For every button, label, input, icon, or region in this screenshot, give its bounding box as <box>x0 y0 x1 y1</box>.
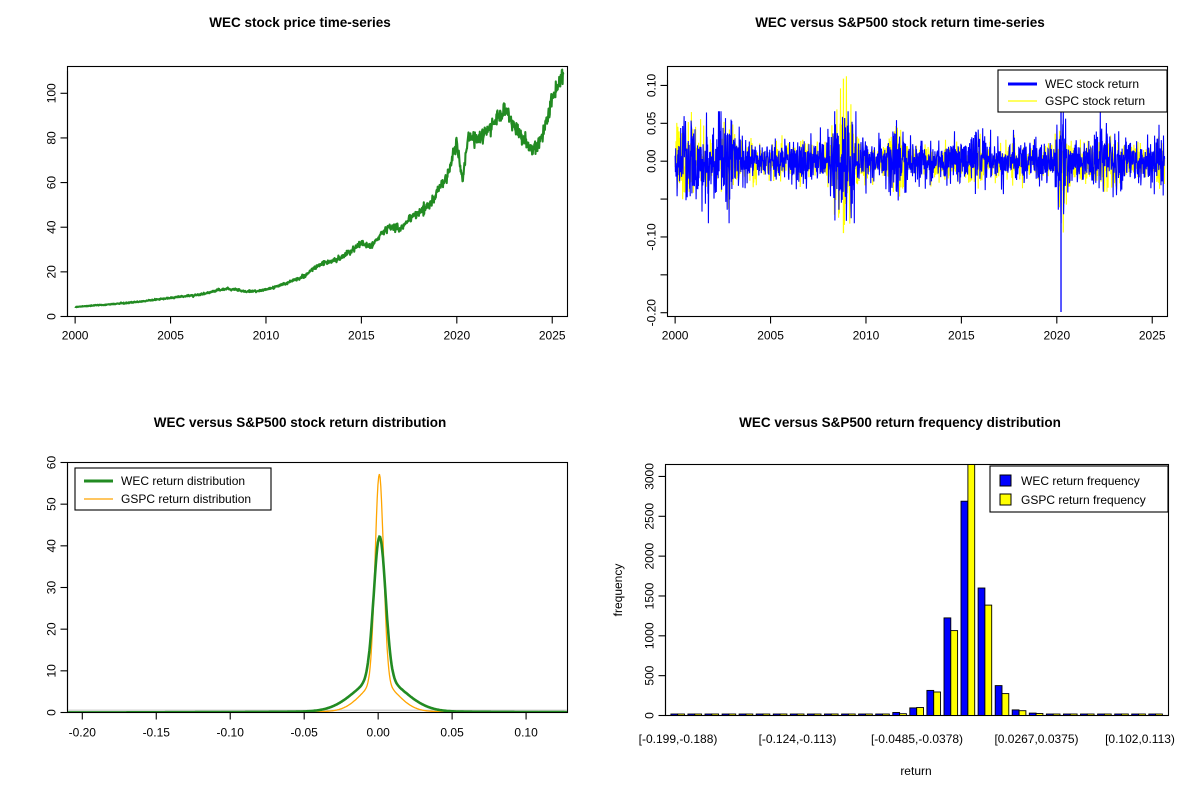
y-tick-label: 40 <box>45 220 59 234</box>
x-tick-label: [0.0267,0.0375) <box>994 732 1078 746</box>
returns-legend-label-wec: WEC stock return <box>1045 77 1139 91</box>
x-tick-label: 2000 <box>62 329 89 343</box>
histogram-chart-svg: WEC versus S&P500 return frequency distr… <box>600 400 1200 800</box>
x-tick-label: -0.10 <box>217 726 245 740</box>
x-tick-label: 2015 <box>348 329 375 343</box>
histogram-bar <box>951 631 958 716</box>
y-tick-label: 100 <box>45 83 59 103</box>
y-tick-label: 2500 <box>643 503 657 530</box>
histogram-bar <box>961 501 968 715</box>
histogram-ylabel: frequency <box>611 564 625 617</box>
histogram-legend-swatch-wec <box>1000 475 1011 486</box>
y-tick-label: 20 <box>45 265 59 279</box>
panel-density: WEC versus S&P500 stock return distribut… <box>0 400 600 800</box>
returns-y-axis: 0.100.050.00-0.10-0.20 <box>645 73 668 326</box>
y-tick-label: 40 <box>45 539 59 553</box>
histogram-bar <box>1002 694 1009 716</box>
x-tick-label: [-0.124,-0.113) <box>759 732 837 746</box>
y-tick-label: 0 <box>643 712 657 719</box>
histogram-y-axis: 050010001500200025003000 <box>643 463 666 719</box>
price-title: WEC stock price time-series <box>209 15 391 30</box>
histogram-bar <box>978 588 985 716</box>
x-tick-label: [-0.0485,-0.0378) <box>871 732 963 746</box>
x-tick-label: 0.05 <box>440 726 464 740</box>
y-tick-label: 20 <box>45 622 59 636</box>
returns-legend-label-gspc: GSPC stock return <box>1045 94 1145 108</box>
density-chart-svg: WEC versus S&P500 stock return distribut… <box>0 400 600 800</box>
x-tick-label: 0.10 <box>514 726 538 740</box>
x-tick-label: 2015 <box>948 329 975 343</box>
histogram-bar <box>917 708 924 716</box>
price-plot-box <box>68 67 568 317</box>
y-tick-label: 500 <box>643 665 657 685</box>
x-tick-label: 2025 <box>539 329 566 343</box>
y-tick-label: 60 <box>45 456 59 470</box>
y-tick-label: 30 <box>45 581 59 595</box>
price-chart-svg: WEC stock price time-series 020406080100… <box>0 0 600 400</box>
price-series-line <box>75 70 564 308</box>
x-tick-label: 2010 <box>253 329 280 343</box>
y-tick-label: -0.20 <box>645 299 659 327</box>
x-tick-label: 2005 <box>757 329 784 343</box>
wec-density-curve <box>68 537 568 713</box>
histogram-bar <box>1019 711 1026 716</box>
x-tick-label: 2020 <box>443 329 470 343</box>
histogram-x-tick-labels: [-0.199,-0.188)[-0.124,-0.113)[-0.0485,-… <box>639 732 1175 746</box>
density-legend-label-gspc: GSPC return distribution <box>121 492 251 506</box>
x-tick-label: -0.05 <box>291 726 319 740</box>
y-tick-label: 80 <box>45 131 59 145</box>
x-tick-label: 2010 <box>853 329 880 343</box>
histogram-xlabel: return <box>900 764 931 778</box>
y-tick-label: 60 <box>45 176 59 190</box>
y-tick-label: 0 <box>45 709 59 716</box>
y-tick-label: 0 <box>45 313 59 320</box>
histogram-bar <box>927 690 934 715</box>
histogram-bar <box>934 692 941 716</box>
return-polyline <box>675 111 1165 223</box>
density-y-axis: 0102030405060 <box>45 456 68 716</box>
y-tick-label: 1000 <box>643 622 657 649</box>
panel-returns: WEC versus S&P500 stock return time-seri… <box>600 0 1200 400</box>
histogram-bar <box>944 618 951 716</box>
x-tick-label: 2005 <box>157 329 184 343</box>
y-tick-label: 2000 <box>643 542 657 569</box>
histogram-legend-label-gspc: GSPC return frequency <box>1021 493 1146 507</box>
histogram-legend: WEC return frequency GSPC return frequen… <box>990 466 1168 512</box>
wec-return-series <box>675 107 1165 312</box>
density-legend-label-wec: WEC return distribution <box>121 474 245 488</box>
histogram-legend-label-wec: WEC return frequency <box>1021 474 1140 488</box>
y-tick-label: -0.10 <box>645 223 659 251</box>
x-tick-label: [0.102,0.113) <box>1105 732 1175 746</box>
histogram-bar <box>1012 710 1019 716</box>
y-tick-label: 1500 <box>643 582 657 609</box>
price-y-axis: 020406080100 <box>45 71 68 320</box>
histogram-title: WEC versus S&P500 return frequency distr… <box>739 415 1061 430</box>
x-tick-label: 2025 <box>1139 329 1166 343</box>
x-tick-label: 0.00 <box>366 726 390 740</box>
panel-histogram: WEC versus S&P500 return frequency distr… <box>600 400 1200 800</box>
x-tick-label: -0.15 <box>143 726 171 740</box>
panel-price: WEC stock price time-series 020406080100… <box>0 0 600 400</box>
y-tick-label: 0.10 <box>645 73 659 97</box>
density-legend: WEC return distribution GSPC return dist… <box>75 468 271 510</box>
x-tick-label: [-0.199,-0.188) <box>639 732 718 746</box>
density-x-axis: -0.20-0.15-0.10-0.050.000.050.10 <box>69 713 556 740</box>
x-tick-label: 2000 <box>662 329 689 343</box>
x-tick-label: 2020 <box>1043 329 1070 343</box>
histogram-bar <box>910 708 917 716</box>
y-tick-label: 50 <box>45 497 59 511</box>
returns-chart-svg: WEC versus S&P500 stock return time-seri… <box>600 0 1200 400</box>
price-x-axis: 200020052010201520202025 <box>62 317 566 343</box>
y-tick-label: 3000 <box>643 463 657 490</box>
figure-grid: WEC stock price time-series 020406080100… <box>0 0 1200 800</box>
y-tick-label: 0.05 <box>645 111 659 135</box>
histogram-bar <box>985 605 992 715</box>
returns-title: WEC versus S&P500 stock return time-seri… <box>755 15 1045 30</box>
y-tick-label: 0.00 <box>645 149 659 173</box>
histogram-legend-swatch-gspc <box>1000 494 1011 505</box>
y-tick-label: 10 <box>45 664 59 678</box>
density-title: WEC versus S&P500 stock return distribut… <box>154 415 447 430</box>
returns-x-axis: 200020052010201520202025 <box>662 317 1166 343</box>
returns-legend: WEC stock return GSPC stock return <box>998 70 1167 112</box>
histogram-bar <box>995 686 1002 716</box>
x-tick-label: -0.20 <box>69 726 97 740</box>
histogram-bar <box>968 465 975 716</box>
